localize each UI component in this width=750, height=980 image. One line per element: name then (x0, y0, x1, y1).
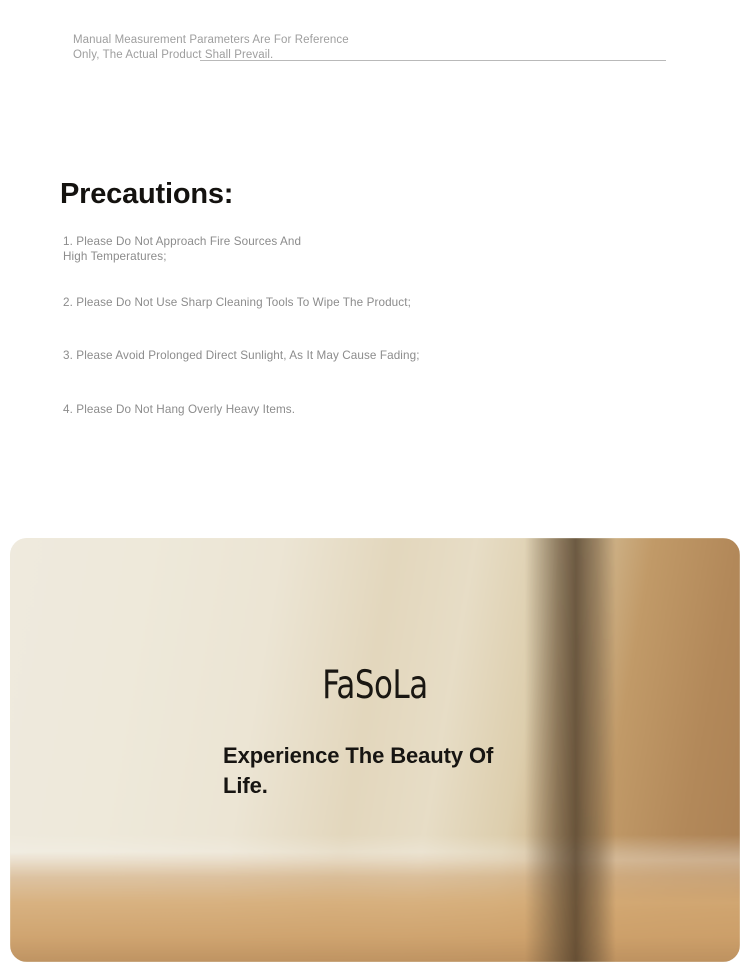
measurement-disclaimer-text: Manual Measurement Parameters Are For Re… (73, 33, 353, 63)
measurement-disclaimer-block: Manual Measurement Parameters Are For Re… (0, 0, 750, 80)
disclaimer-divider (200, 60, 666, 61)
precautions-heading: Precautions: (60, 180, 233, 209)
brand-tagline: Experience The Beauty Of Life. (223, 741, 533, 801)
precaution-item-2: 2. Please Do Not Use Sharp Cleaning Tool… (63, 295, 483, 311)
precaution-item-3: 3. Please Avoid Prolonged Direct Sunligh… (63, 348, 483, 364)
brand-hero-content: FaSoLa Experience The Beauty Of Life. (10, 538, 740, 962)
precaution-item-1: 1. Please Do Not Approach Fire Sources A… (63, 234, 313, 265)
precaution-item-4: 4. Please Do Not Hang Overly Heavy Items… (63, 402, 483, 418)
brand-hero-card: FaSoLa Experience The Beauty Of Life. (10, 538, 740, 962)
brand-wordmark-fasola: FaSoLa (54, 666, 696, 705)
